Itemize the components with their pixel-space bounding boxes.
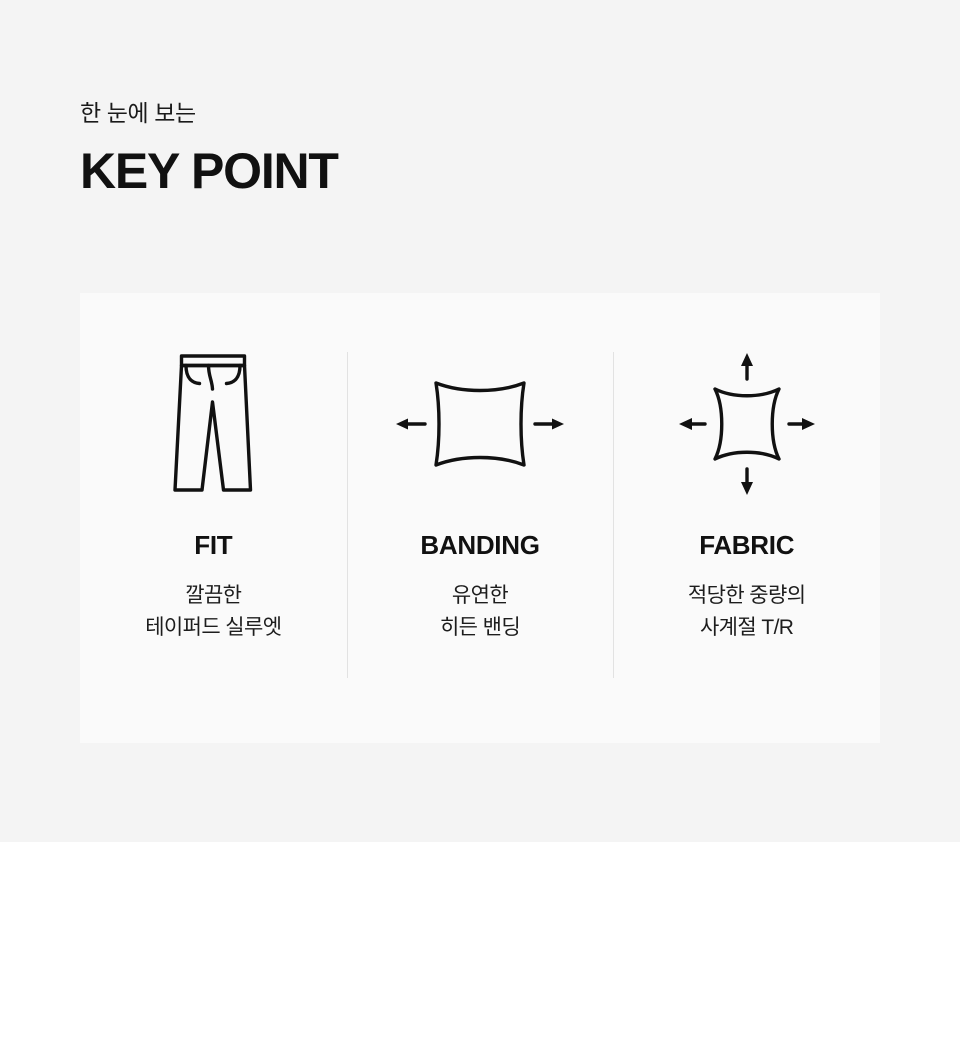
feature-title-banding: BANDING [420, 532, 539, 558]
feature-title-fit: FIT [194, 532, 232, 558]
horizontal-stretch-icon [392, 341, 568, 506]
feature-desc-line2: 테이퍼드 실루엣 [145, 612, 281, 644]
feature-desc-line1: 적당한 중량의 [688, 580, 806, 612]
four-way-stretch-icon [677, 341, 817, 506]
feature-column-banding: BANDING 유연한 히든 밴딩 [347, 293, 614, 743]
key-point-section: 한 눈에 보는 KEY POINT [0, 0, 960, 842]
feature-desc-banding: 유연한 히든 밴딩 [440, 580, 520, 644]
feature-title-fabric: FABRIC [699, 532, 794, 558]
feature-desc-fit: 깔끔한 테이퍼드 실루엣 [145, 580, 281, 644]
feature-column-fit: FIT 깔끔한 테이퍼드 실루엣 [80, 293, 347, 743]
feature-desc-line1: 유연한 [440, 580, 520, 612]
section-eyebrow: 한 눈에 보는 [80, 98, 780, 129]
key-point-card: FIT 깔끔한 테이퍼드 실루엣 [80, 293, 880, 743]
heading-block: 한 눈에 보는 KEY POINT [80, 98, 780, 198]
pants-icon [168, 341, 258, 506]
feature-column-fabric: FABRIC 적당한 중량의 사계절 T/R [613, 293, 880, 743]
page-title: KEY POINT [80, 145, 780, 198]
feature-desc-line1: 깔끔한 [145, 580, 281, 612]
feature-desc-line2: 히든 밴딩 [440, 612, 520, 644]
feature-desc-fabric: 적당한 중량의 사계절 T/R [688, 580, 806, 644]
feature-desc-line2: 사계절 T/R [688, 612, 806, 644]
key-point-page: 한 눈에 보는 KEY POINT [0, 0, 960, 1048]
